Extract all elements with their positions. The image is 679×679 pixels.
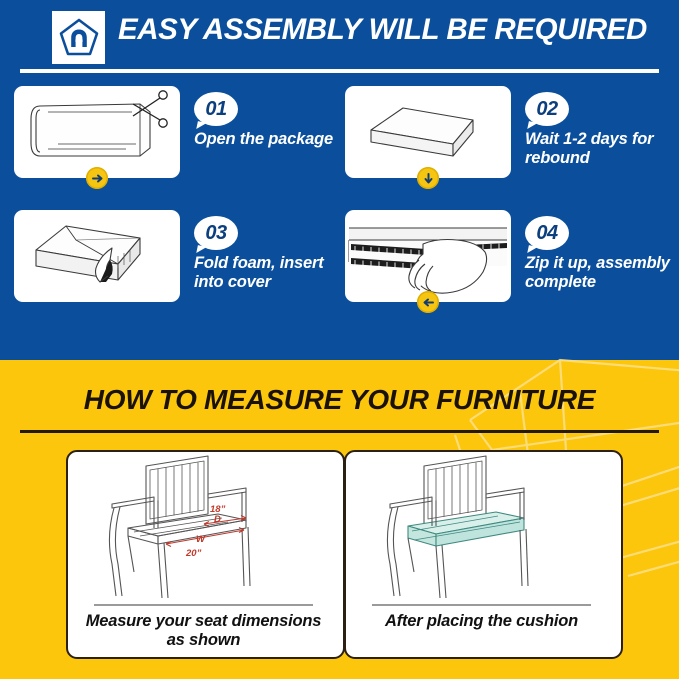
step-number: 03 [205, 222, 226, 245]
depth-letter: D [214, 514, 221, 525]
step-number-bubble: 01 [194, 92, 238, 126]
flat-foam-cushion-icon [345, 86, 511, 178]
step-number-bubble: 02 [525, 92, 569, 126]
step-number: 02 [536, 98, 557, 121]
arrow-left-icon [417, 291, 439, 313]
step-illustration-card [14, 210, 180, 302]
measure-panel: 18” D W 20” Measure your seat dimensions… [66, 450, 345, 659]
step-label: Zip it up, assembly complete [525, 254, 677, 291]
step-label: Fold foam, insert into cover [194, 254, 346, 291]
panel-caption: Measure your seat dimensions as shown [76, 612, 331, 650]
section-title: HOW TO MEASURE YOUR FURNITURE [0, 384, 679, 416]
infographic-stage: EASY ASSEMBLY WILL BE REQUIRED [0, 0, 679, 679]
step-illustration-card [345, 86, 511, 178]
step-illustration-card [14, 86, 180, 178]
step-label: Wait 1-2 days for rebound [525, 130, 677, 167]
hand-zipping-cover-icon [345, 210, 511, 302]
assembly-steps: 01 Open the package [0, 86, 679, 311]
chair-with-cushion-icon [346, 452, 617, 604]
page-title: EASY ASSEMBLY WILL BE REQUIRED [118, 13, 647, 47]
step-label: Open the package [194, 130, 346, 149]
section-divider [20, 430, 659, 433]
arrow-down-icon [417, 167, 439, 189]
step-item: 03 Fold foam, insert into cover [14, 210, 344, 314]
measure-section: HOW TO MEASURE YOUR FURNITURE [0, 300, 679, 679]
chair-with-dimensions-icon: 18” D W 20” [68, 452, 339, 604]
header-divider [20, 69, 659, 73]
step-item: 02 Wait 1-2 days for rebound [345, 86, 675, 190]
width-value: 20” [185, 548, 202, 559]
rolled-package-with-scissors-icon [14, 86, 180, 178]
house-pentagon-logo-icon [52, 11, 105, 64]
step-number: 04 [536, 222, 557, 245]
step-item: 01 Open the package [14, 86, 344, 190]
panel-divider [94, 604, 313, 606]
step-illustration-card [345, 210, 511, 302]
measure-panels: 18” D W 20” Measure your seat dimensions… [0, 450, 679, 665]
measure-panel: After placing the cushion [344, 450, 623, 659]
panel-divider [372, 604, 591, 606]
step-number: 01 [205, 98, 226, 121]
header: EASY ASSEMBLY WILL BE REQUIRED [0, 0, 679, 78]
step-number-bubble: 03 [194, 216, 238, 250]
step-number-bubble: 04 [525, 216, 569, 250]
panel-caption: After placing the cushion [354, 612, 609, 631]
width-letter: W [196, 534, 206, 545]
step-item: 04 Zip it up, assembly complete [345, 210, 675, 314]
foam-insert-into-cover-icon [14, 210, 180, 302]
arrow-right-icon [86, 167, 108, 189]
